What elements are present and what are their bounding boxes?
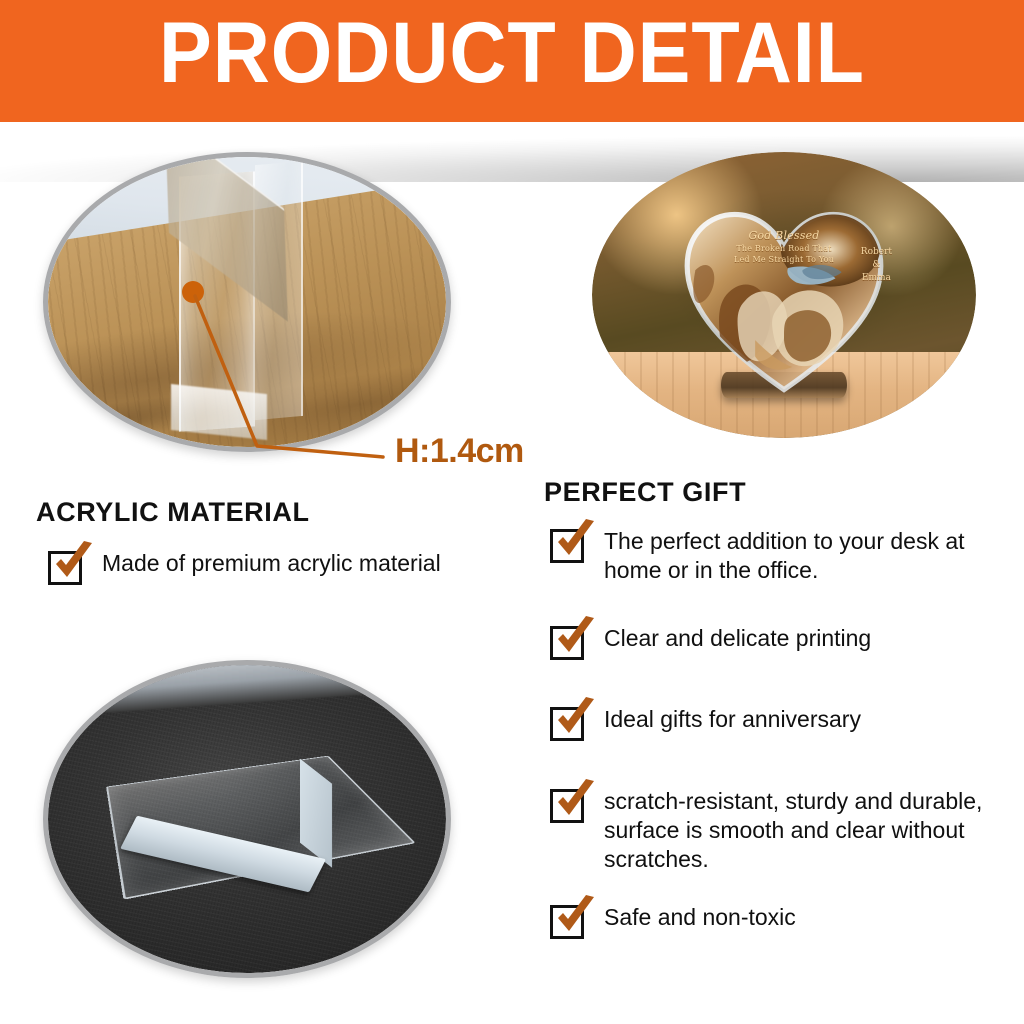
acrylic-slab-bottom-highlight: [171, 384, 267, 440]
check-icon: [552, 892, 600, 940]
checkbox-checked: [550, 905, 584, 939]
check-icon: [552, 694, 600, 742]
list-item-label: Safe and non-toxic: [604, 903, 796, 932]
list-item-label: Made of premium acrylic material: [102, 549, 441, 578]
photo-acrylic-block-edge: [43, 152, 451, 452]
checkbox-checked: [550, 626, 584, 660]
list-item: Ideal gifts for anniversary: [550, 705, 861, 741]
checkbox-checked: [550, 789, 584, 823]
photo-acrylic-block-slate: [43, 660, 451, 978]
check-icon: [552, 613, 600, 661]
engraved-name-2: Emma: [861, 272, 892, 285]
photo-slate-content: [48, 665, 446, 973]
engraved-line-2: The Broken Road That: [709, 244, 859, 255]
list-item-label: The perfect addition to your desk at hom…: [604, 527, 1024, 585]
engraved-names: Robert & Emma: [861, 246, 892, 285]
engraved-quote: God Blessed The Broken Road That Led Me …: [709, 229, 859, 265]
engraved-ampersand: &: [861, 259, 892, 272]
photo-heart-plaque: God Blessed The Broken Road That Led Me …: [592, 152, 976, 438]
checkbox-checked: [550, 707, 584, 741]
page-header-banner: PRODUCT DETAIL: [0, 0, 1024, 122]
engraved-line-1: God Blessed: [709, 229, 859, 244]
list-item-label: scratch-resistant, sturdy and durable, s…: [604, 787, 1024, 874]
checkbox-checked: [48, 551, 82, 585]
check-icon: [552, 516, 600, 564]
list-item-label: Ideal gifts for anniversary: [604, 705, 861, 734]
list-item: Made of premium acrylic material: [48, 549, 441, 585]
list-item: scratch-resistant, sturdy and durable, s…: [550, 787, 1024, 874]
list-item: Safe and non-toxic: [550, 903, 796, 939]
check-icon: [552, 776, 600, 824]
list-item: Clear and delicate printing: [550, 624, 871, 660]
check-icon: [50, 538, 98, 586]
section-heading-perfect-gift: PERFECT GIFT: [544, 477, 746, 508]
acrylic-square-block: [116, 717, 379, 908]
wood-scene: [48, 157, 446, 447]
list-item: The perfect addition to your desk at hom…: [550, 527, 1024, 585]
page-title: PRODUCT DETAIL: [41, 8, 983, 98]
measurement-dot-icon: [182, 281, 204, 303]
product-detail-page: PRODUCT DETAIL H:1.4cm: [0, 0, 1024, 1024]
dimension-label: H:1.4cm: [395, 432, 524, 471]
photo-heart-content: God Blessed The Broken Road That Led Me …: [592, 152, 976, 438]
checkbox-checked: [550, 529, 584, 563]
section-heading-acrylic-material: ACRYLIC MATERIAL: [36, 497, 310, 528]
engraved-name-1: Robert: [861, 246, 892, 259]
list-item-label: Clear and delicate printing: [604, 624, 871, 653]
engraved-line-3: Led Me Straight To You: [709, 255, 859, 266]
photo-edge-content: [48, 157, 446, 447]
